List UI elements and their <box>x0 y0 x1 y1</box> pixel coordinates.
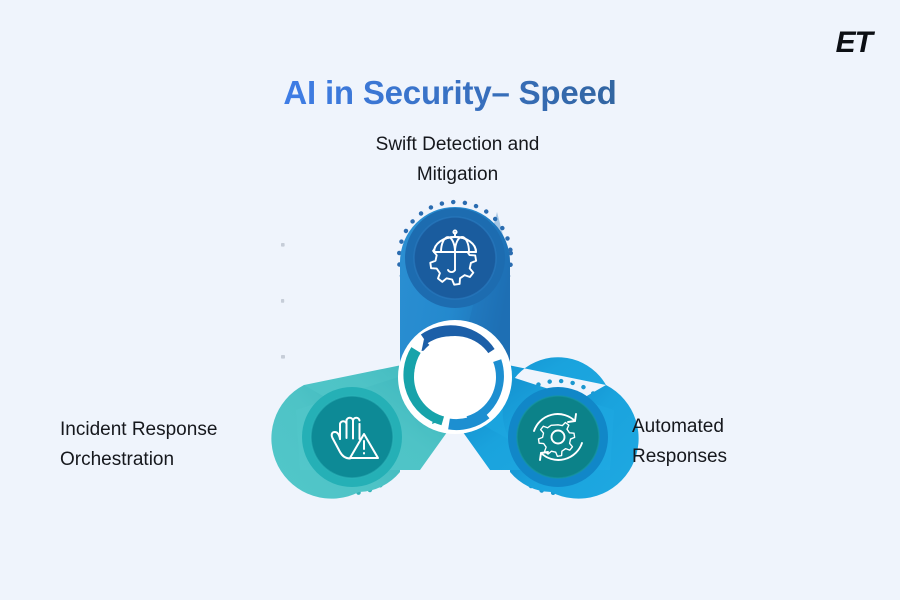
badge-automated-responses[interactable] <box>508 387 608 487</box>
node-label-swift-detection: Swift Detection and Mitigation <box>330 130 585 191</box>
badge-swift-detection[interactable] <box>405 208 505 308</box>
cycle-hub[interactable] <box>398 320 512 434</box>
decorative-dots <box>281 243 285 359</box>
node-label-incident-response: Incident Response Orchestration <box>60 415 278 476</box>
pinwheel-diagram: Swift Detection and Mitigation Incident … <box>0 0 900 600</box>
diagram-canvas <box>0 0 900 600</box>
node-label-automated-responses: Automated Responses <box>632 412 852 473</box>
badge-incident-response[interactable] <box>302 387 402 487</box>
